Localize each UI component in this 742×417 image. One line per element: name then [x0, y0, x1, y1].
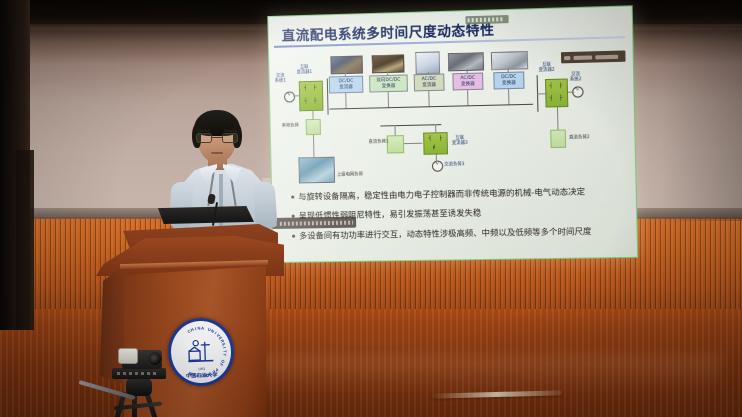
wire-src1-conv1 [345, 72, 346, 76]
interlink-converter-2: ┤ ├ ┤ ├ [545, 78, 568, 107]
converter-acdc-2: AC/DC 变换器 [452, 73, 483, 91]
projection-screen[interactable]: 直流配电系统多时间尺度动态特性 DC/DC 变流器 双向DC/DC 变换器 [267, 5, 638, 263]
label-dc-load-1: 直流负荷1 [368, 139, 388, 145]
wire-conv5-bus [508, 89, 509, 104]
label-dc-load-2: 直流负荷2 [569, 135, 590, 141]
emblem-ring-char: T [222, 350, 227, 353]
interlink-converter-3: ┤ ├ ∮ [423, 132, 448, 155]
wire-dcload1-midconv [404, 143, 422, 144]
converter-line2: 变换器 [502, 80, 516, 86]
wire-midconv-acsrc [436, 155, 437, 162]
camera-top-module [118, 348, 138, 364]
converter-acdc-1: AC/DC 变流器 [414, 74, 445, 92]
wire-bus-midconv [435, 124, 436, 133]
label-interlink-converter-1: 互联变流器1 [296, 65, 312, 76]
label-interlink-converter-2: 互联变流器2 [538, 63, 554, 74]
slide-bullet-list: 与旋转设备隔离，稳定性由电力电子控制器而非传统电源的机械-电气动态决定 呈现低惯… [291, 185, 623, 249]
emblem-ring-char: Y [222, 353, 227, 356]
converter-dcdc-1: DC/DC 变流器 [329, 76, 364, 94]
ac-source-1 [284, 91, 295, 102]
wire-bus-dcload1 [394, 125, 395, 135]
converter-bidir-dcdc: 双向DC/DC 变换器 [369, 74, 408, 92]
emblem-ring-char: I [222, 347, 227, 349]
label-ac-system-1: 交流系统1 [275, 74, 287, 85]
thumb-building-load [298, 157, 335, 184]
curtain-left-fold [16, 150, 34, 330]
wire-conv4-bus [467, 90, 468, 105]
ac-source-3 [432, 160, 443, 171]
lens-left [196, 133, 212, 143]
camera-mount-plate [112, 368, 166, 379]
bullet-dot-icon [291, 196, 294, 199]
label-dc-load-3: 交流负荷3 [444, 162, 464, 168]
wire-ilc1-local [312, 111, 313, 119]
thumb-wind-turbine [415, 51, 440, 74]
dc-bus-upper [329, 104, 533, 110]
wire-bus-dcload2 [557, 107, 559, 129]
laptop[interactable] [158, 206, 254, 224]
presenter-mouth [211, 152, 223, 154]
interlink-converter-1: ┤ ├ ┤ ├ [299, 81, 324, 112]
tripod-head [126, 378, 152, 396]
wire-src5-conv5 [508, 68, 509, 72]
lens-right [222, 133, 238, 143]
eyeglasses-icon [196, 133, 238, 143]
emblem-ring-char: A [201, 325, 204, 330]
converter-line2: 变流器 [339, 84, 353, 90]
converter-dcdc-2: DC/DC 变换器 [493, 71, 524, 89]
slide-diagram: DC/DC 变流器 双向DC/DC 变换器 AC/DC 变流器 AC/DC 变换… [268, 44, 636, 186]
wire-src2-conv2 [387, 71, 388, 75]
label-upper-load: 上级电网负荷 [337, 172, 363, 178]
emblem-ring-char: I [194, 326, 196, 331]
wire-src4-conv4 [467, 69, 468, 73]
wire-ilc2-acsrc2 [568, 92, 574, 93]
wire-conv2-bus [388, 92, 389, 107]
wire-conv3-bus [428, 91, 429, 106]
dc-load-box-1 [387, 135, 405, 154]
converter-line2: 变换器 [382, 83, 396, 89]
bullet-text: 与旋转设备隔离，稳定性由电力电子控制器而非传统电源的机械-电气动态决定 [298, 186, 585, 202]
wire-ac1-ilc1 [293, 95, 300, 96]
wire-conv1-bus [345, 93, 346, 108]
camera-lens-icon [148, 352, 162, 366]
dc-bus-lower [380, 124, 441, 127]
thumb-electric-vehicle [491, 51, 528, 70]
label-ac-system-2: 交流系统2 [570, 72, 582, 83]
camera-tripod [104, 342, 208, 417]
bullet-item: 与旋转设备隔离，稳定性由电力电子控制器而非传统电源的机械-电气动态决定 [291, 185, 622, 201]
converter-line2: 变流器 [422, 82, 436, 88]
dc-load-box-2 [550, 129, 566, 148]
slide-title-badge [465, 15, 508, 24]
wire-local-building [313, 135, 314, 157]
label-interlink-converter-3: 互联变流器3 [452, 136, 468, 147]
thumb-pv-panel [330, 55, 363, 74]
wire-src3-conv3 [428, 72, 429, 74]
glasses-bridge [212, 137, 222, 138]
converter-line2: 变换器 [461, 81, 475, 87]
lecture-hall-scene: 直流配电系统多时间尺度动态特性 DC/DC 变流器 双向DC/DC 变换器 [0, 0, 742, 417]
label-local-load: 本地负荷 [282, 123, 299, 129]
local-load-box [306, 119, 321, 135]
